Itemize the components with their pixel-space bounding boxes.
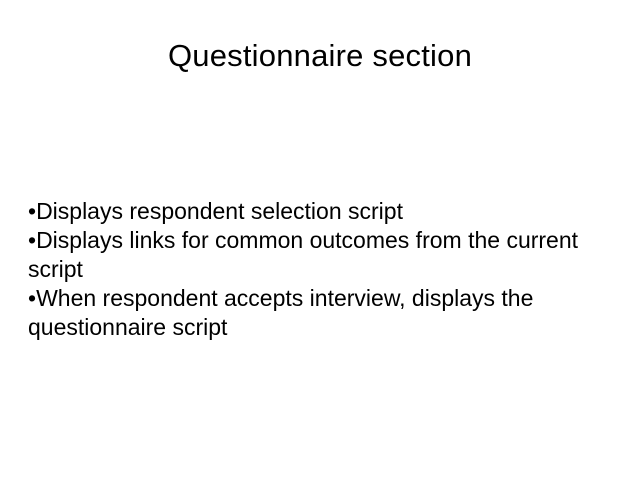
bullet-list: •Displays respondent selection script •D… [28, 197, 616, 342]
bullet-point-icon: • [28, 285, 36, 311]
page-title: Questionnaire section [168, 38, 472, 74]
bullet-point-icon: • [28, 198, 36, 224]
bullet-point-icon: • [28, 227, 36, 253]
slide-title-container: Questionnaire section [0, 38, 640, 74]
list-item: •Displays links for common outcomes from… [28, 226, 616, 284]
list-item: •When respondent accepts interview, disp… [28, 284, 616, 342]
list-item: •Displays respondent selection script [28, 197, 616, 226]
list-item-label: Displays respondent selection script [36, 198, 403, 224]
list-item-label: Displays links for common outcomes from … [28, 227, 578, 282]
slide-body-container: •Displays respondent selection script •D… [28, 197, 616, 342]
list-item-label: When respondent accepts interview, displ… [28, 285, 533, 340]
slide-canvas: Questionnaire section •Displays responde… [0, 0, 640, 480]
